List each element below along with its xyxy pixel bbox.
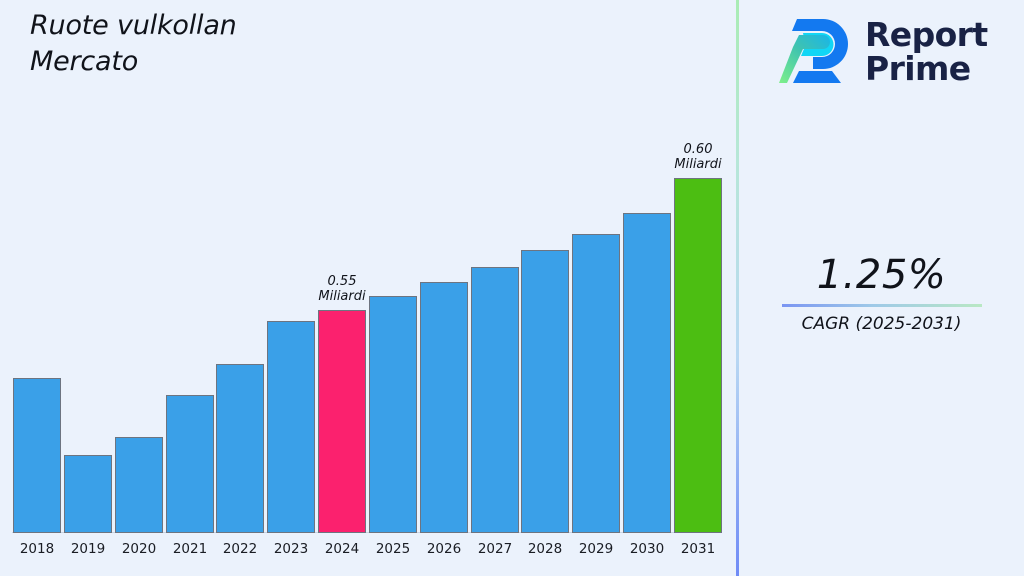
- bar-group-2027[interactable]: 2027: [471, 267, 519, 533]
- bar-2027[interactable]: [471, 267, 519, 533]
- bar-2029[interactable]: [572, 234, 620, 533]
- bar-2019[interactable]: [64, 455, 112, 533]
- bar-2018[interactable]: [13, 378, 61, 533]
- bar-2024[interactable]: [318, 310, 366, 533]
- x-tick-label-2031: 2031: [663, 541, 733, 557]
- bar-group-2026[interactable]: 2026: [420, 282, 468, 533]
- bar-chart-plot: 2018201920202021202220230.55 Miliardi202…: [0, 0, 736, 576]
- bar-2021[interactable]: [166, 395, 214, 533]
- bar-group-2029[interactable]: 2029: [572, 234, 620, 533]
- bar-group-2023[interactable]: 2023: [267, 321, 315, 533]
- bar-2020[interactable]: [115, 437, 163, 533]
- bar-group-2020[interactable]: 2020: [115, 437, 163, 533]
- cagr-value: 1.25%: [739, 252, 1024, 298]
- report-prime-logo-mark: [779, 14, 851, 90]
- bar-2022[interactable]: [216, 364, 264, 533]
- chart-panel: Ruote vulkollan Mercato 2018201920202021…: [0, 0, 736, 576]
- cagr-caption: CAGR (2025-2031): [739, 314, 1024, 334]
- bar-2026[interactable]: [420, 282, 468, 533]
- report-prime-logo[interactable]: Report Prime: [779, 14, 988, 90]
- bar-2025[interactable]: [369, 296, 417, 533]
- bar-group-2031[interactable]: 0.60 Miliardi2031: [674, 178, 722, 533]
- bar-group-2024[interactable]: 0.55 Miliardi2024: [318, 310, 366, 533]
- bar-group-2018[interactable]: 2018: [13, 378, 61, 533]
- bar-group-2019[interactable]: 2019: [64, 455, 112, 533]
- cagr-block: 1.25% CAGR (2025-2031): [739, 252, 1024, 334]
- bar-2023[interactable]: [267, 321, 315, 533]
- bar-2028[interactable]: [521, 250, 569, 533]
- bar-2030[interactable]: [623, 213, 671, 533]
- bar-group-2025[interactable]: 2025: [369, 296, 417, 533]
- bar-group-2030[interactable]: 2030: [623, 213, 671, 533]
- cagr-divider-rule: [782, 304, 982, 307]
- bar-group-2028[interactable]: 2028: [521, 250, 569, 533]
- logo-wordmark: Report Prime: [865, 18, 988, 85]
- bar-group-2022[interactable]: 2022: [216, 364, 264, 533]
- bar-2031[interactable]: [674, 178, 722, 533]
- bar-group-2021[interactable]: 2021: [166, 395, 214, 533]
- branding-panel: Report Prime 1.25% CAGR (2025-2031): [739, 0, 1024, 576]
